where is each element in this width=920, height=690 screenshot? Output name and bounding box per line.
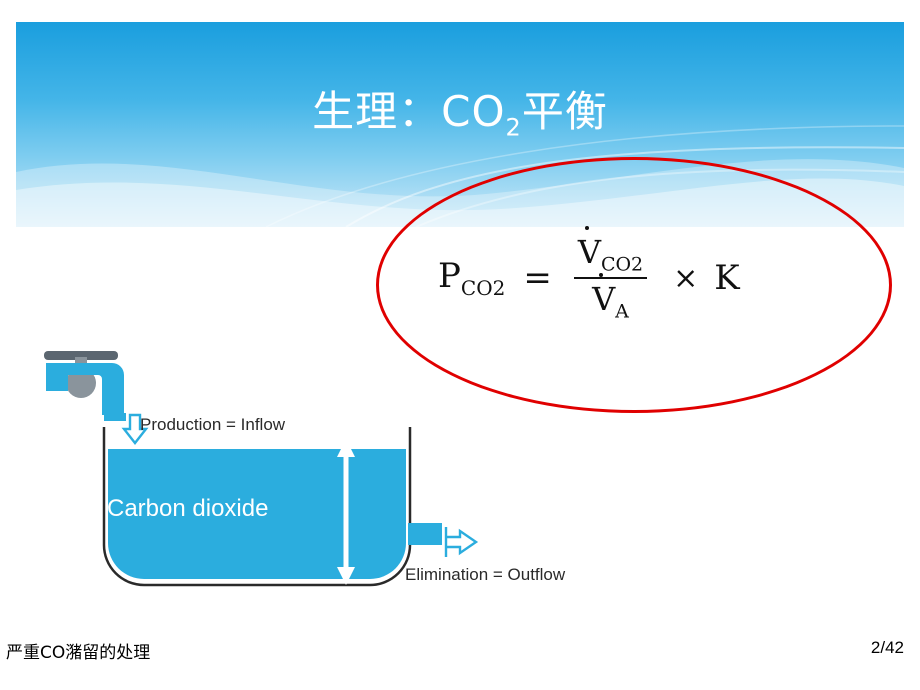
tank-label: Carbon dioxide [107, 495, 268, 523]
page-title-tail: 平衡 [522, 87, 608, 136]
co2-equation: PCO2 = VCO2 VA × K [438, 235, 740, 322]
fraction-denominator: VA [588, 282, 633, 322]
co2-tank-diagram: Production = Inflow Carbon dioxide Elimi… [22, 327, 662, 602]
fraction-bar [574, 277, 647, 279]
slide-number: 2/42 [871, 638, 904, 658]
page-title: 生理：CO2平衡 [16, 78, 904, 141]
numerator-subscript: CO2 [601, 253, 643, 275]
outflow-arrow-icon [446, 527, 476, 557]
slide-content-frame: 生理：CO2平衡 PCO2 = VCO2 VA × K [16, 22, 904, 608]
dot-accent-icon [585, 226, 589, 230]
multiplication-sign: × [673, 261, 698, 296]
equals-sign: = [523, 258, 552, 298]
equation-lhs-subscript: CO2 [461, 276, 505, 300]
outflow-label: Elimination = Outflow [405, 565, 565, 585]
page-title-subscript: 2 [506, 113, 522, 141]
equation-constant: K [714, 258, 739, 298]
equation-lhs: PCO2 [438, 259, 505, 298]
page-title-main: 生理：CO [312, 87, 505, 136]
slide: 生理：CO2平衡 PCO2 = VCO2 VA × K [0, 0, 920, 690]
dot-accent-icon [599, 273, 603, 277]
inflow-label: Production = Inflow [140, 415, 285, 435]
outlet-pipe [408, 523, 442, 545]
equation-fraction: VCO2 VA [568, 235, 653, 322]
footer-title: 严重CO潴留的处理 [6, 638, 150, 663]
fraction-numerator: VCO2 [574, 235, 647, 275]
faucet-icon [44, 351, 126, 421]
tank-illustration [22, 327, 662, 602]
denominator-subscript: A [615, 300, 629, 322]
